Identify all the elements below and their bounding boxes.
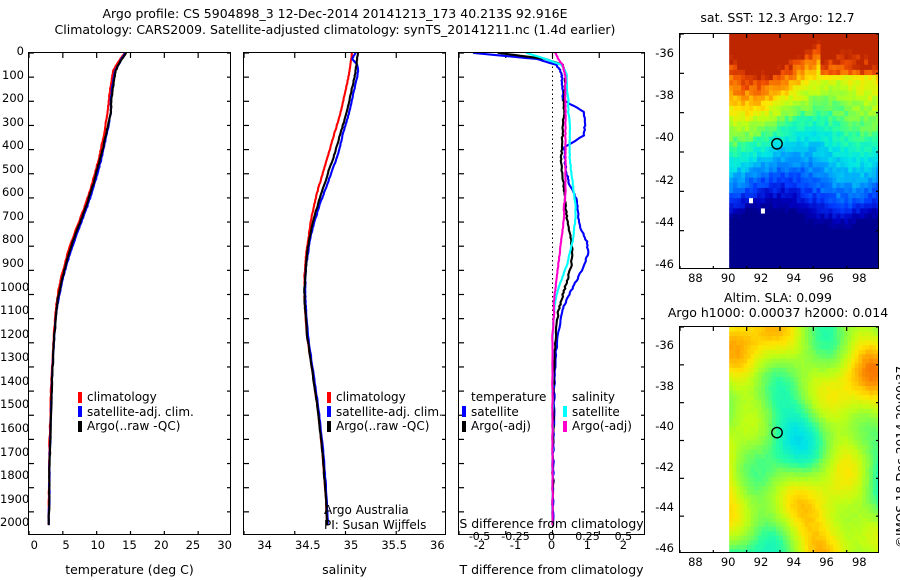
difference-temperature-legend-row: Argo(-adj) (462, 419, 546, 434)
salinity-tick-34: 34 (241, 540, 289, 552)
sst-map-raster (680, 34, 879, 269)
depth-tick-700: 700 (0, 211, 24, 223)
argo-australia-credit: Argo Australia PI: Susan Wijffels (324, 503, 426, 532)
sla-title-line-2: Argo h1000: 0.00037 h2000: 0.014 (662, 305, 894, 320)
depth-tick-1600: 1600 (0, 423, 24, 435)
sst-lat-tick--40: -40 (647, 132, 674, 144)
salinity-legend-row: satellite-adj. clim. (327, 405, 443, 420)
title-line-2: Climatology: CARS2009. Satellite-adjuste… (0, 22, 670, 38)
depth-tick-1100: 1100 (0, 305, 24, 317)
salinity-tick-35.5: 35.5 (370, 540, 418, 552)
difference-temperature-legend-label: Argo(-adj) (471, 419, 531, 434)
sst-lat-tick--36: -36 (647, 48, 674, 60)
sst-lat-tick--46: -46 (647, 259, 674, 271)
temperature-legend-label: Argo(..raw -QC) (87, 419, 180, 434)
salinity-legend-label: Argo(..raw -QC) (336, 419, 429, 434)
depth-tick-1200: 1200 (0, 329, 24, 341)
depth-tick-300: 300 (0, 117, 24, 129)
sst-map-title: sat. SST: 12.3 Argo: 12.7 (670, 10, 885, 25)
sst-lat-tick--42: -42 (647, 175, 674, 187)
salinity-profile-plot[interactable] (243, 52, 446, 535)
salinity-profile-curves (244, 53, 446, 535)
temperature-legend-swatch-icon (78, 392, 82, 403)
difference-profile-plot[interactable] (458, 52, 645, 535)
difference-temperature-legend-swatch-icon (462, 406, 466, 417)
salinity-legend-row: Argo(..raw -QC) (327, 419, 443, 434)
sla-lat-tick--46: -46 (647, 543, 674, 555)
temperature-legend-row: climatology (78, 390, 194, 405)
sla-lat-tick--44: -44 (647, 502, 674, 514)
sla-title-line-1: Altim. SLA: 0.099 (662, 290, 894, 305)
depth-tick-1300: 1300 (0, 352, 24, 364)
difference-salinity-legend-label: satellite (572, 405, 620, 420)
sst-lon-tick-88: 88 (679, 273, 711, 285)
depth-tick-1900: 1900 (0, 494, 24, 506)
depth-tick-1400: 1400 (0, 376, 24, 388)
salinity-legend-swatch-icon (327, 406, 331, 417)
sla-map-raster (680, 327, 879, 553)
depth-tick-600: 600 (0, 187, 24, 199)
difference-temperature-legend: temperaturesatelliteArgo(-adj) (462, 390, 546, 434)
salinity-legend-label: climatology (336, 390, 406, 405)
salinity-legend-swatch-icon (327, 392, 331, 403)
temperature-legend-label: satellite-adj. clim. (87, 405, 194, 420)
difference-salinity-legend-swatch-icon (563, 406, 567, 417)
difference-temperature-legend-heading: temperature (471, 390, 546, 405)
sst-lon-tick-92: 92 (745, 273, 777, 285)
difference-temperature-legend-swatch-icon (462, 421, 466, 432)
salinity-axis-title: salinity (243, 562, 446, 577)
salinity-legend-label: satellite-adj. clim. (336, 405, 443, 420)
page-title: Argo profile: CS 5904898_3 12-Dec-2014 2… (0, 6, 670, 38)
temperature-profile-plot[interactable] (28, 52, 231, 535)
salinity-tick-35: 35 (327, 540, 375, 552)
temperature-legend-row: satellite-adj. clim. (78, 405, 194, 420)
salinity-legend: climatologysatellite-adj. clim.Argo(..ra… (327, 390, 443, 434)
sla-map[interactable] (679, 326, 879, 553)
temperature-legend-row: Argo(..raw -QC) (78, 419, 194, 434)
sla-lon-tick-94: 94 (778, 557, 810, 569)
difference-axis-title-bottom: T difference from climatology (452, 562, 651, 577)
difference-profile-curves (459, 53, 645, 535)
difference-salinity-legend-label: Argo(-adj) (572, 419, 632, 434)
temperature-legend-swatch-icon (78, 421, 82, 432)
sst-map[interactable] (679, 33, 879, 269)
sla-lat-tick--42: -42 (647, 462, 674, 474)
depth-tick-800: 800 (0, 234, 24, 246)
depth-tick-1800: 1800 (0, 470, 24, 482)
temperature-axis-title: temperature (deg C) (28, 562, 231, 577)
depth-tick-100: 100 (0, 70, 24, 82)
sst-lon-tick-94: 94 (778, 273, 810, 285)
salinity-tick-34.5: 34.5 (284, 540, 332, 552)
sst-lon-tick-90: 90 (712, 273, 744, 285)
sla-lon-tick-88: 88 (679, 557, 711, 569)
difference-salinity-legend-swatch-icon (563, 421, 567, 432)
difference-salinity-legend-row: Argo(-adj) (563, 419, 632, 434)
depth-tick-1000: 1000 (0, 282, 24, 294)
salinity-legend-swatch-icon (327, 421, 331, 432)
salinity-tick-36: 36 (413, 540, 461, 552)
credit-org: Argo Australia (324, 503, 426, 518)
temperature-legend-label: climatology (87, 390, 157, 405)
depth-tick-900: 900 (0, 258, 24, 270)
difference-axis-title-top: S difference from climatology (452, 516, 651, 531)
sdiff-tick-0.5: 0.5 (601, 531, 645, 543)
sla-lat-tick--36: -36 (647, 340, 674, 352)
depth-tick-400: 400 (0, 140, 24, 152)
sla-lon-tick-90: 90 (712, 557, 744, 569)
depth-tick-0: 0 (0, 46, 24, 58)
sla-lat-tick--38: -38 (647, 381, 674, 393)
depth-tick-1700: 1700 (0, 447, 24, 459)
sst-lat-tick--44: -44 (647, 217, 674, 229)
difference-temperature-legend-label: satellite (471, 405, 519, 420)
temperature-legend-swatch-icon (78, 406, 82, 417)
sla-lon-tick-92: 92 (745, 557, 777, 569)
depth-tick-500: 500 (0, 164, 24, 176)
sst-lon-tick-98: 98 (843, 273, 875, 285)
sst-lon-tick-96: 96 (811, 273, 843, 285)
difference-salinity-legend-heading: salinity (572, 390, 632, 405)
title-line-1: Argo profile: CS 5904898_3 12-Dec-2014 2… (0, 6, 670, 22)
salinity-legend-row: climatology (327, 390, 443, 405)
difference-salinity-legend: salinitysatelliteArgo(-adj) (563, 390, 632, 434)
sla-lon-tick-98: 98 (843, 557, 875, 569)
difference-temperature-legend-row: satellite (462, 405, 546, 420)
depth-tick-2000: 2000 (0, 517, 24, 529)
copyright-text: ©IMOS 18-Dec-2014 20:00:37 (894, 366, 900, 548)
depth-tick-1500: 1500 (0, 399, 24, 411)
difference-salinity-legend-row: satellite (563, 405, 632, 420)
sla-lat-tick--40: -40 (647, 421, 674, 433)
temperature-legend: climatologysatellite-adj. clim.Argo(..ra… (78, 390, 194, 434)
sla-map-title: Altim. SLA: 0.099 Argo h1000: 0.00037 h2… (662, 290, 894, 320)
temperature-tick-30: 30 (205, 540, 245, 552)
depth-tick-200: 200 (0, 93, 24, 105)
sst-lat-tick--38: -38 (647, 90, 674, 102)
credit-pi: PI: Susan Wijffels (324, 518, 426, 533)
temperature-profile-curves (29, 53, 231, 535)
sla-lon-tick-96: 96 (811, 557, 843, 569)
